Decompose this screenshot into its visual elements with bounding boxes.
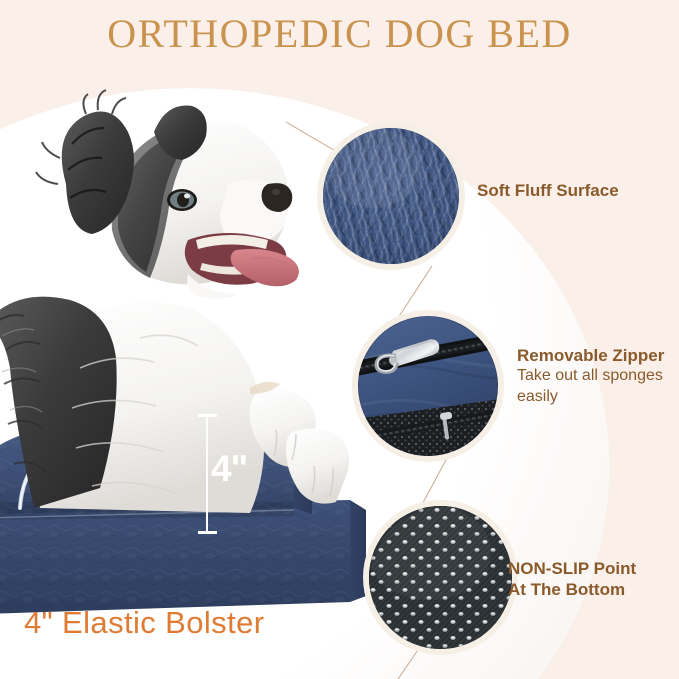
zipper-texture-swatch <box>358 316 498 456</box>
dimension-cap-bottom <box>198 531 217 534</box>
feature-headline: Soft Fluff Surface <box>477 180 619 201</box>
feature-label-non-slip: NON-SLIP Point At The Bottom <box>508 558 636 601</box>
detail-circle-inner <box>358 316 498 456</box>
blue-fluff-texture-swatch <box>323 128 459 264</box>
thickness-label: 4" <box>211 450 247 487</box>
thickness-dimension-marker: 4" <box>196 414 266 534</box>
dog-photo-illustration <box>0 88 360 518</box>
feature-label-removable-zipper: Removable Zipper Take out all sponges ea… <box>517 345 679 408</box>
feature-headline-second-line: At The Bottom <box>508 579 636 600</box>
detail-circle-removable-zipper <box>352 310 504 462</box>
detail-circle-inner <box>323 128 459 264</box>
detail-circle-soft-fluff <box>317 122 465 270</box>
dimension-line <box>206 414 208 534</box>
detail-circle-non-slip <box>363 500 518 655</box>
detail-circle-inner <box>369 506 512 649</box>
feature-label-soft-fluff: Soft Fluff Surface <box>477 180 619 201</box>
poster-title-bar: ORTHOPEDIC DOG BED <box>0 14 679 54</box>
page-title: ORTHOPEDIC DOG BED <box>0 14 679 54</box>
feature-subtext: Take out all sponges easily <box>517 366 679 408</box>
product-poster: ORTHOPEDIC DOG BED <box>0 0 679 679</box>
feature-headline: Removable Zipper <box>517 345 679 366</box>
non-slip-texture-swatch <box>369 506 512 649</box>
feature-headline: NON-SLIP Point <box>508 558 636 579</box>
bolster-caption: 4" Elastic Bolster <box>24 605 264 641</box>
